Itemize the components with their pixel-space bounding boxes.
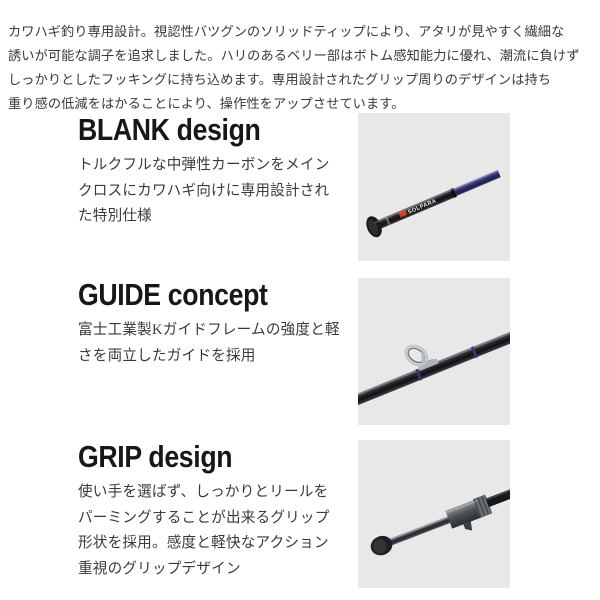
feature-block-guide: GUIDE concept 富士工業製Kガイドフレームの強度と軽 さを両立したガ…: [0, 278, 600, 425]
feature-text-blank: BLANK design トルクフルな中弾性カーボンをメイン クロスにカワハギ向…: [78, 113, 346, 230]
feature-text-grip: GRIP design 使い手を選ばず、しっかりとリールを パーミングすることが…: [78, 440, 346, 582]
rod-blank-photo: SOLPARA: [358, 113, 510, 261]
rod-grip-illustration: [358, 440, 510, 588]
feature-block-grip: GRIP design 使い手を選ばず、しっかりとリールを パーミングすることが…: [0, 440, 600, 588]
feature-text-guide: GUIDE concept 富士工業製Kガイドフレームの強度と軽 さを両立したガ…: [78, 278, 346, 369]
feature-title-blank: BLANK design: [78, 113, 308, 146]
feature-body-guide: 富士工業製Kガイドフレームの強度と軽 さを両立したガイドを採用: [78, 318, 346, 369]
feature-body-grip: 使い手を選ばず、しっかりとリールを パーミングすることが出来るグリップ 形状を採…: [78, 480, 346, 582]
feature-title-guide: GUIDE concept: [78, 278, 308, 311]
product-feature-page: カワハギ釣り専用設計。視認性バツグンのソリッドティップにより、アタリが見やすく繊…: [0, 0, 600, 600]
feature-title-grip: GRIP design: [78, 440, 308, 473]
intro-paragraph: カワハギ釣り専用設計。視認性バツグンのソリッドティップにより、アタリが見やすく繊…: [8, 20, 594, 116]
rod-grip-photo: [358, 440, 510, 588]
rod-guide-photo: [358, 278, 510, 425]
rod-guide-illustration: [358, 278, 510, 425]
feature-body-blank: トルクフルな中弾性カーボンをメイン クロスにカワハギ向けに専用設計され た特別仕…: [78, 153, 346, 230]
rod-blank-illustration: SOLPARA: [358, 113, 510, 261]
feature-block-blank: BLANK design トルクフルな中弾性カーボンをメイン クロスにカワハギ向…: [0, 113, 600, 261]
